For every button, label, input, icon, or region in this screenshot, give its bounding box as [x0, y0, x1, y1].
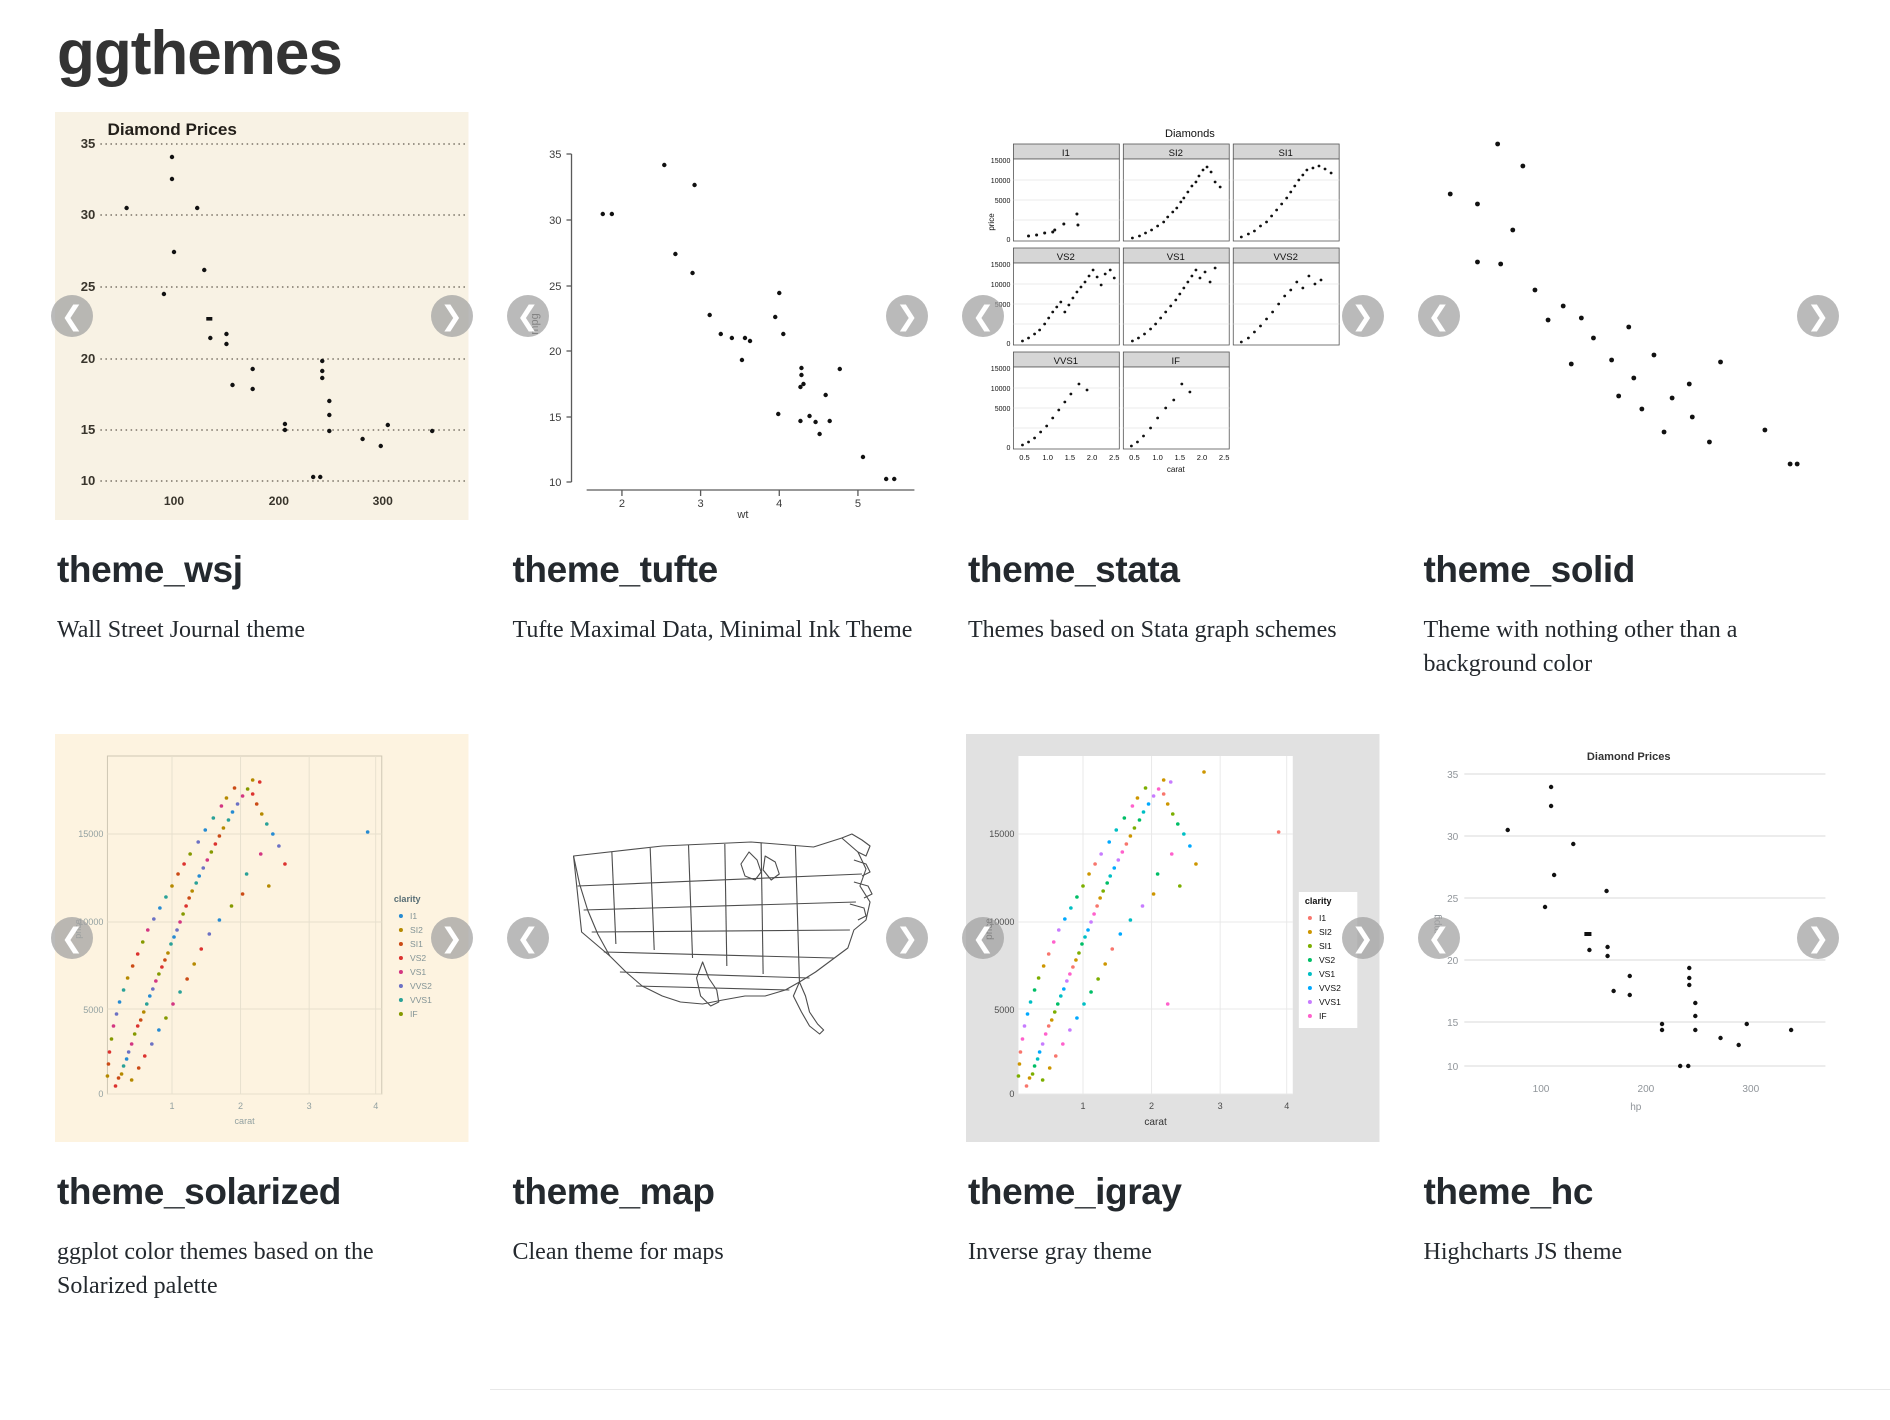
theme-desc-solid: Theme with nothing other than a backgrou… [1424, 613, 1824, 681]
svg-text:2.0: 2.0 [1197, 453, 1207, 462]
svg-text:VS2: VS2 [1319, 955, 1335, 965]
svg-text:VS2: VS2 [410, 953, 426, 963]
legend-igray: clarity I1 SI2 SI1 VS2 VS1 VVS2 VVS1 IF [1299, 892, 1357, 1028]
theme-title-map: theme_map [513, 1171, 925, 1213]
theme-title-hc: theme_hc [1424, 1171, 1836, 1213]
theme-title-stata: theme_stata [968, 549, 1380, 591]
svg-text:5000: 5000 [83, 1005, 103, 1015]
carousel-next-wsj[interactable]: ❯ [431, 295, 473, 337]
svg-text:0: 0 [1009, 1089, 1014, 1099]
carousel-next-solid[interactable]: ❯ [1797, 295, 1839, 337]
svg-text:VS1: VS1 [1319, 969, 1335, 979]
carousel-next-map[interactable]: ❯ [886, 917, 928, 959]
svg-text:30: 30 [549, 215, 561, 227]
svg-text:10000: 10000 [991, 386, 1011, 393]
chart-tufte: 35 30 25 20 15 10 2 3 4 5 mpg wt [511, 112, 925, 520]
svg-text:10: 10 [81, 473, 96, 488]
svg-text:VS1: VS1 [410, 967, 426, 977]
thumbnail-map[interactable]: ❮ ❯ [511, 733, 925, 1143]
footer-divider [490, 1389, 1890, 1390]
thumbnail-stata[interactable]: Diamonds I1 SI2 [966, 111, 1380, 521]
svg-text:1.0: 1.0 [1042, 453, 1052, 462]
svg-text:30: 30 [81, 207, 96, 222]
svg-text:2.0: 2.0 [1087, 453, 1097, 462]
theme-desc-map: Clean theme for maps [513, 1235, 913, 1269]
svg-text:I1: I1 [1319, 913, 1326, 923]
svg-text:15: 15 [1447, 1018, 1459, 1029]
svg-text:3: 3 [1218, 1101, 1223, 1111]
svg-text:4: 4 [373, 1101, 378, 1111]
chart-map [511, 734, 925, 1142]
thumbnail-tufte[interactable]: 35 30 25 20 15 10 2 3 4 5 mpg wt [511, 111, 925, 521]
svg-text:I1: I1 [1062, 148, 1070, 159]
svg-text:5000: 5000 [995, 198, 1011, 205]
svg-text:VS2: VS2 [1057, 252, 1075, 263]
svg-text:0: 0 [1006, 445, 1010, 452]
svg-text:200: 200 [1637, 1084, 1654, 1095]
svg-text:hp: hp [1630, 1102, 1642, 1113]
theme-desc-hc: Highcharts JS theme [1424, 1235, 1824, 1269]
svg-text:clarity: clarity [394, 894, 421, 904]
theme-desc-solarized: ggplot color themes based on the Solariz… [57, 1235, 457, 1303]
svg-text:100: 100 [164, 494, 184, 508]
svg-text:5000: 5000 [994, 1005, 1014, 1015]
svg-text:2: 2 [1149, 1101, 1154, 1111]
chart-solid [1422, 112, 1836, 520]
carousel-prev-solarized[interactable]: ❮ [51, 917, 93, 959]
svg-text:VS1: VS1 [1167, 252, 1185, 263]
thumbnail-hc[interactable]: Diamond Prices 353025 201510 10 [1422, 733, 1836, 1143]
svg-text:1.0: 1.0 [1152, 453, 1162, 462]
chart-wsj: 35 30 25 20 15 10 Diamond Prices [55, 112, 469, 520]
svg-text:2.5: 2.5 [1109, 453, 1119, 462]
theme-card-igray[interactable]: 150001000050000 1234 price carat [966, 733, 1380, 1303]
svg-text:15: 15 [549, 412, 561, 424]
stata-chart-title: Diamonds [1165, 128, 1215, 140]
chart-solarized: 150001000050000 1234 price carat [55, 734, 469, 1142]
theme-grid-row-1: 35 30 25 20 15 10 Diamond Prices [55, 111, 1835, 681]
theme-desc-igray: Inverse gray theme [968, 1235, 1368, 1269]
svg-text:300: 300 [1742, 1084, 1759, 1095]
svg-text:35: 35 [81, 136, 96, 151]
carousel-prev-wsj[interactable]: ❮ [51, 295, 93, 337]
theme-title-solarized: theme_solarized [57, 1171, 469, 1213]
svg-text:15000: 15000 [78, 829, 103, 839]
theme-title-wsj: theme_wsj [57, 549, 469, 591]
theme-desc-tufte: Tufte Maximal Data, Minimal Ink Theme [513, 613, 913, 647]
svg-text:15000: 15000 [991, 262, 1011, 269]
thumbnail-igray[interactable]: 150001000050000 1234 price carat [966, 733, 1380, 1143]
svg-text:IF: IF [1319, 1011, 1327, 1021]
svg-text:100: 100 [1532, 1084, 1549, 1095]
svg-text:VVS1: VVS1 [1054, 356, 1078, 367]
svg-text:0: 0 [1006, 237, 1010, 244]
svg-text:300: 300 [373, 494, 393, 508]
svg-text:0.5: 0.5 [1129, 453, 1139, 462]
svg-text:wt: wt [736, 509, 748, 520]
theme-card-solarized[interactable]: 150001000050000 1234 price carat [55, 733, 469, 1303]
svg-text:SI2: SI2 [410, 925, 423, 935]
thumbnail-solid[interactable]: ❮ ❯ [1422, 111, 1836, 521]
svg-text:clarity: clarity [1305, 896, 1332, 906]
svg-text:3: 3 [697, 498, 703, 510]
carousel-prev-igray[interactable]: ❮ [962, 917, 1004, 959]
thumbnail-wsj[interactable]: 35 30 25 20 15 10 Diamond Prices [55, 111, 469, 521]
svg-text:35: 35 [549, 149, 561, 161]
svg-text:4: 4 [1284, 1101, 1289, 1111]
theme-desc-stata: Themes based on Stata graph schemes [968, 613, 1368, 647]
svg-text:2: 2 [618, 498, 624, 510]
svg-text:3: 3 [307, 1101, 312, 1111]
svg-text:carat: carat [1144, 1117, 1167, 1128]
svg-text:10: 10 [1447, 1062, 1459, 1073]
svg-text:15000: 15000 [991, 366, 1011, 373]
thumbnail-solarized[interactable]: 150001000050000 1234 price carat [55, 733, 469, 1143]
svg-text:Diamond Prices: Diamond Prices [107, 120, 237, 139]
theme-card-hc[interactable]: Diamond Prices 353025 201510 10 [1422, 733, 1836, 1303]
svg-text:SI2: SI2 [1169, 148, 1183, 159]
svg-text:SI1: SI1 [1319, 941, 1332, 951]
hc-chart-title: Diamond Prices [1586, 751, 1670, 763]
carousel-prev-hc[interactable]: ❮ [1418, 917, 1460, 959]
chart-stata: Diamonds I1 SI2 [966, 112, 1380, 520]
svg-text:20: 20 [1447, 956, 1459, 967]
carousel-next-stata[interactable]: ❯ [1342, 295, 1384, 337]
svg-text:I1: I1 [410, 911, 417, 921]
svg-text:VVS2: VVS2 [410, 981, 432, 991]
chart-hc: Diamond Prices 353025 201510 10 [1422, 734, 1836, 1142]
carousel-prev-map[interactable]: ❮ [507, 917, 549, 959]
svg-text:5000: 5000 [995, 406, 1011, 413]
theme-title-tufte: theme_tufte [513, 549, 925, 591]
svg-text:10: 10 [549, 477, 561, 489]
svg-text:carat: carat [1167, 465, 1186, 474]
chart-igray: 150001000050000 1234 price carat [966, 734, 1380, 1142]
svg-text:0.5: 0.5 [1019, 453, 1029, 462]
theme-desc-wsj: Wall Street Journal theme [57, 613, 457, 647]
carousel-next-igray[interactable]: ❯ [1342, 917, 1384, 959]
svg-text:1: 1 [169, 1101, 174, 1111]
svg-text:200: 200 [269, 494, 289, 508]
svg-text:0: 0 [98, 1089, 103, 1099]
svg-text:1.5: 1.5 [1175, 453, 1185, 462]
carousel-prev-stata[interactable]: ❮ [962, 295, 1004, 337]
carousel-next-tufte[interactable]: ❯ [886, 295, 928, 337]
svg-text:1: 1 [1080, 1101, 1085, 1111]
theme-card-tufte[interactable]: 35 30 25 20 15 10 2 3 4 5 mpg wt [511, 111, 925, 681]
page-root: ggthemes 35 30 [0, 18, 1890, 1303]
svg-text:VVS1: VVS1 [410, 995, 432, 1005]
svg-text:20: 20 [549, 346, 561, 358]
carousel-prev-solid[interactable]: ❮ [1418, 295, 1460, 337]
svg-text:IF: IF [1172, 356, 1181, 367]
svg-text:SI1: SI1 [410, 939, 423, 949]
svg-text:1.5: 1.5 [1065, 453, 1075, 462]
svg-text:25: 25 [1447, 894, 1459, 905]
svg-text:0: 0 [1006, 341, 1010, 348]
theme-title-solid: theme_solid [1424, 549, 1836, 591]
carousel-prev-tufte[interactable]: ❮ [507, 295, 549, 337]
theme-card-wsj[interactable]: 35 30 25 20 15 10 Diamond Prices [55, 111, 469, 681]
theme-title-igray: theme_igray [968, 1171, 1380, 1213]
carousel-next-solarized[interactable]: ❯ [431, 917, 473, 959]
svg-text:4: 4 [776, 498, 782, 510]
svg-text:carat: carat [235, 1116, 256, 1126]
theme-card-solid[interactable]: ❮ ❯ theme_solid Theme with nothing other… [1422, 111, 1836, 681]
svg-text:2.5: 2.5 [1219, 453, 1229, 462]
page-title: ggthemes [57, 18, 1835, 89]
svg-text:price: price [987, 213, 996, 231]
svg-text:15: 15 [81, 422, 96, 437]
svg-text:2: 2 [238, 1101, 243, 1111]
svg-text:10000: 10000 [991, 282, 1011, 289]
svg-text:15000: 15000 [991, 158, 1011, 165]
svg-text:VVS2: VVS2 [1273, 252, 1297, 263]
svg-text:15000: 15000 [989, 829, 1014, 839]
svg-text:25: 25 [549, 281, 561, 293]
theme-card-stata[interactable]: Diamonds I1 SI2 [966, 111, 1380, 681]
svg-text:SI1: SI1 [1279, 148, 1293, 159]
carousel-next-hc[interactable]: ❯ [1797, 917, 1839, 959]
theme-grid-row-2: 150001000050000 1234 price carat [55, 733, 1835, 1303]
svg-text:VVS2: VVS2 [1319, 983, 1341, 993]
svg-text:30: 30 [1447, 832, 1459, 843]
svg-text:5: 5 [854, 498, 860, 510]
svg-text:35: 35 [1447, 770, 1459, 781]
svg-text:SI2: SI2 [1319, 927, 1332, 937]
svg-text:VVS1: VVS1 [1319, 997, 1341, 1007]
theme-card-map[interactable]: ❮ ❯ theme_map Clean theme for maps [511, 733, 925, 1303]
svg-text:20: 20 [81, 351, 96, 366]
svg-text:IF: IF [410, 1009, 418, 1019]
svg-text:25: 25 [81, 279, 96, 294]
svg-text:10000: 10000 [991, 178, 1011, 185]
